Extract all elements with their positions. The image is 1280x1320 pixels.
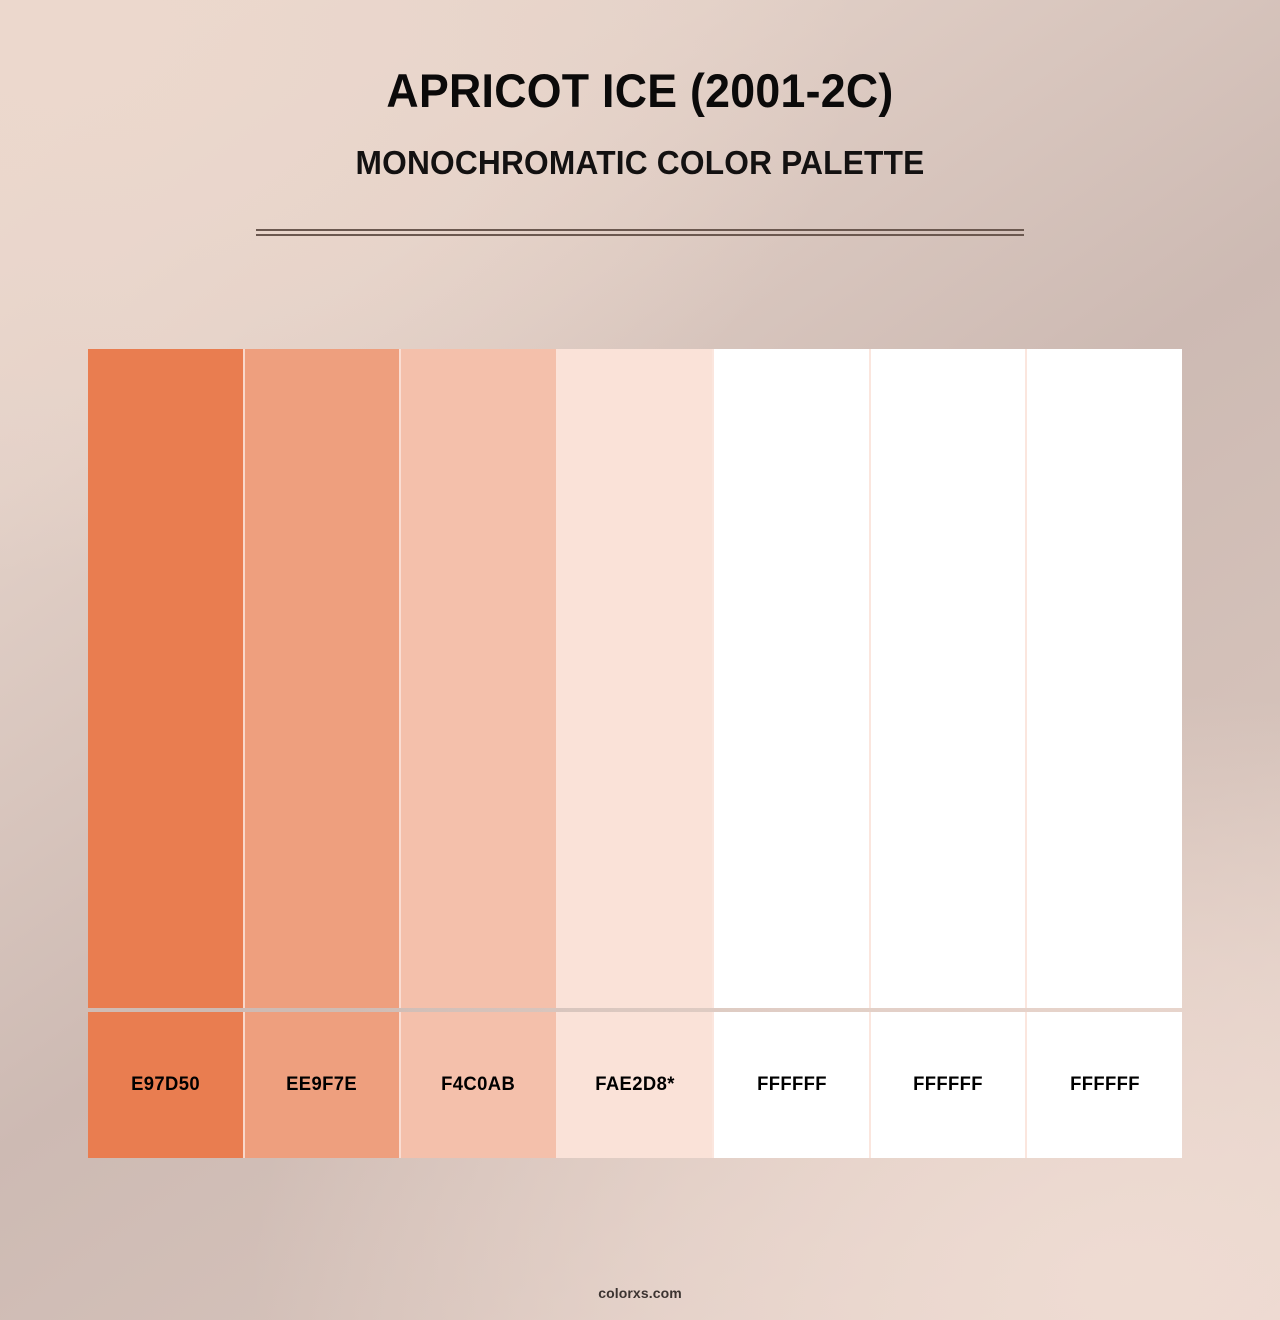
color-swatch[interactable]	[243, 349, 400, 1008]
color-swatch[interactable]	[399, 349, 556, 1008]
color-swatch-label-cell[interactable]: E97D50	[88, 1012, 243, 1158]
color-swatch[interactable]	[556, 349, 713, 1008]
header: APRICOT ICE (2001-2C) MONOCHROMATIC COLO…	[0, 66, 1280, 181]
page-title: APRICOT ICE (2001-2C)	[32, 66, 1248, 117]
color-swatch[interactable]	[1025, 349, 1182, 1008]
swatch-label-row: E97D50 EE9F7E F4C0AB FAE2D8* FFFFFF FFFF…	[88, 1012, 1182, 1158]
color-swatch-label-cell[interactable]: FFFFFF	[869, 1012, 1026, 1158]
divider-line-top	[256, 229, 1024, 231]
color-hex-label: FAE2D8*	[595, 1074, 675, 1096]
color-swatch-label-cell[interactable]: EE9F7E	[243, 1012, 400, 1158]
color-hex-label: F4C0AB	[441, 1074, 515, 1096]
color-swatch-label-cell[interactable]: FFFFFF	[1025, 1012, 1182, 1158]
color-swatch-label-cell[interactable]: FAE2D8*	[556, 1012, 713, 1158]
color-swatch[interactable]	[869, 349, 1026, 1008]
page-subtitle: MONOCHROMATIC COLOR PALETTE	[26, 145, 1255, 181]
color-hex-label: EE9F7E	[286, 1074, 357, 1096]
color-hex-label: E97D50	[131, 1074, 200, 1096]
divider-line-bottom	[256, 234, 1024, 236]
color-hex-label: FFFFFF	[1070, 1074, 1140, 1096]
color-swatch-label-cell[interactable]: F4C0AB	[399, 1012, 556, 1158]
color-swatch[interactable]	[88, 349, 243, 1008]
color-palette: E97D50 EE9F7E F4C0AB FAE2D8* FFFFFF FFFF…	[88, 349, 1182, 1158]
color-swatch-label-cell[interactable]: FFFFFF	[712, 1012, 869, 1158]
swatch-row	[88, 349, 1182, 1008]
palette-page: APRICOT ICE (2001-2C) MONOCHROMATIC COLO…	[0, 0, 1280, 1320]
color-swatch[interactable]	[712, 349, 869, 1008]
color-hex-label: FFFFFF	[913, 1074, 983, 1096]
title-divider	[256, 229, 1024, 236]
color-hex-label: FFFFFF	[757, 1074, 827, 1096]
footer-site-label: colorxs.com	[0, 1285, 1280, 1301]
